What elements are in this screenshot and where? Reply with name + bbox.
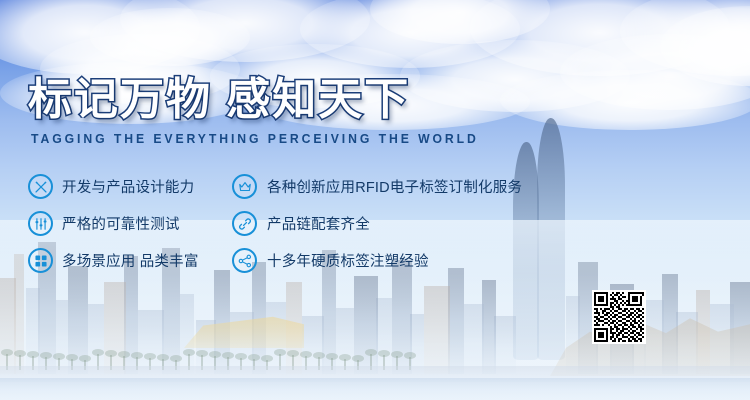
feature-label: 多场景应用 品类丰富 [62,250,199,271]
grid-icon [28,248,53,273]
qr-code-grid [594,292,644,342]
feature-item-development: 开发与产品设计能力 [28,168,238,205]
feature-label: 十多年硬质标签注塑经验 [267,250,429,271]
feature-label: 各种创新应用RFID电子标签订制化服务 [267,176,522,197]
feature-label: 严格的可靠性测试 [62,213,180,234]
promo-banner: 标记万物 感知天下 TAGGING THE EVERYTHING PERCEIV… [0,0,750,400]
qr-code[interactable] [592,290,646,344]
feature-label: 产品链配套齐全 [267,213,370,234]
feature-item-rfid-customization: 各种创新应用RFID电子标签订制化服务 [232,168,662,205]
feature-item-supply-chain: 产品链配套齐全 [232,205,662,242]
feature-column-left: 开发与产品设计能力 严格的可靠性测试 [28,168,238,279]
banner-content: 标记万物 感知天下 TAGGING THE EVERYTHING PERCEIV… [0,0,750,400]
banner-title: 标记万物 感知天下 [28,78,410,122]
feature-item-reliability-testing: 严格的可靠性测试 [28,205,238,242]
feature-item-multi-scenario: 多场景应用 品类丰富 [28,242,238,279]
sliders-icon [28,211,53,236]
tools-icon [28,174,53,199]
feature-column-right: 各种创新应用RFID电子标签订制化服务 产品链配套齐全 [232,168,662,279]
link-icon [232,211,257,236]
banner-subtitle: TAGGING THE EVERYTHING PERCEIVING THE WO… [31,131,479,146]
feature-label: 开发与产品设计能力 [62,176,194,197]
crown-icon [232,174,257,199]
feature-item-molding-experience: 十多年硬质标签注塑经验 [232,242,662,279]
share-icon [232,248,257,273]
